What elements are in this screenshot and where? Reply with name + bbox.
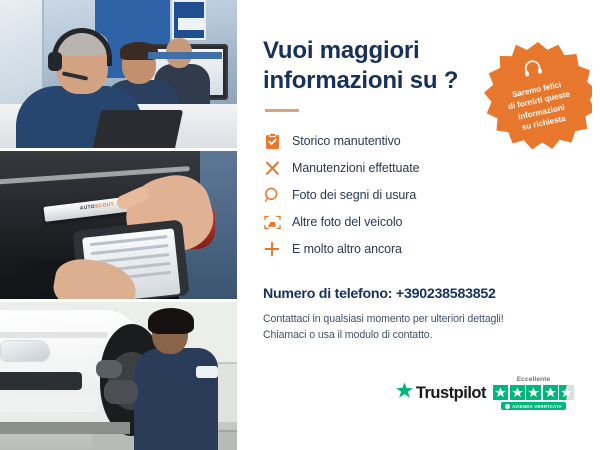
contact-note-line-2: Chiamaci o usa il modulo di contatto. <box>263 327 578 343</box>
list-item-label: Manutenzioni effettuate <box>292 161 419 175</box>
mechanic-hair <box>148 308 194 334</box>
photo-column: AUTOSCOUT <box>0 0 237 450</box>
car-focus-frame-icon <box>263 213 281 231</box>
trustpilot-wordmark: Trustpilot <box>416 384 486 403</box>
mechanic-glove-upper <box>96 360 122 378</box>
list-item-label: Storico manutentivo <box>292 134 401 148</box>
info-on-request-badge: Saremo felici di fornirti queste informa… <box>484 42 592 150</box>
list-item: Foto dei segni di usura <box>263 182 578 209</box>
list-item: Manutenzioni effettuate <box>263 155 578 182</box>
rating-label: Eccellente <box>517 376 551 383</box>
list-item-label: Altre foto del veicolo <box>292 215 402 229</box>
plus-icon <box>263 240 281 258</box>
phone-number-line[interactable]: Numero di telefono: +390238583852 <box>263 286 578 302</box>
wall-poster <box>172 0 206 40</box>
car-bumper <box>0 394 98 412</box>
magnifier-icon <box>263 186 281 204</box>
star-icon <box>526 385 541 400</box>
call-center-agents-photo <box>0 0 237 148</box>
list-item-label: E molto altro ancora <box>292 242 402 256</box>
title-underline-rule <box>265 109 299 112</box>
paint-gauge-inspection-photo: AUTOSCOUT <box>0 151 237 299</box>
mechanic-body <box>134 348 218 450</box>
mechanic-glove-lower <box>104 380 138 404</box>
star-icon <box>493 385 508 400</box>
star-icon <box>543 385 558 400</box>
check-circle-icon <box>505 404 510 409</box>
badge-content: Saremo felici di fornirti queste informa… <box>474 32 600 160</box>
vehicle-lift-arm <box>0 422 130 434</box>
verified-label: AZIENDA VERIFICATA <box>512 404 562 409</box>
trustpilot-score-block: Eccellente AZIEND <box>493 376 574 410</box>
uniform-logo <box>196 366 218 378</box>
list-item-label: Foto dei segni di usura <box>292 188 416 202</box>
star-icon-half <box>559 385 574 400</box>
car-hood <box>0 332 108 338</box>
clipboard-check-icon <box>263 132 281 150</box>
list-item: Altre foto del veicolo <box>263 209 578 236</box>
badge-text: Saremo felici di fornirti queste informa… <box>505 78 576 136</box>
agent-1-laptop <box>91 110 183 148</box>
headset-icon <box>521 58 544 83</box>
mechanic-wheel-check-photo <box>0 302 237 450</box>
trustpilot-star-icon <box>396 382 413 404</box>
trustpilot-logo: Trustpilot <box>396 382 486 404</box>
contact-note: Contattaci in qualsiasi momento per ulte… <box>263 311 578 344</box>
monitor-toolbar <box>148 52 222 59</box>
verified-business-badge: AZIENDA VERIFICATA <box>501 402 566 410</box>
car-headlight <box>0 340 50 362</box>
trustpilot-rating[interactable]: Trustpilot Eccellente <box>396 376 574 410</box>
agent-1-earcup <box>48 52 62 71</box>
contact-note-line-1: Contattaci in qualsiasi momento per ulte… <box>263 311 578 327</box>
crossed-tools-icon <box>263 159 281 177</box>
gauge-brand-label: AUTOSCOUT <box>80 201 115 211</box>
star-rating <box>493 385 574 400</box>
car-grille <box>0 372 82 390</box>
page-title: Vuoi maggiori informazioni su ? <box>263 36 473 96</box>
list-item: E molto altro ancora <box>263 236 578 263</box>
promo-card: AUTOSCOUT <box>0 0 600 450</box>
star-icon <box>510 385 525 400</box>
